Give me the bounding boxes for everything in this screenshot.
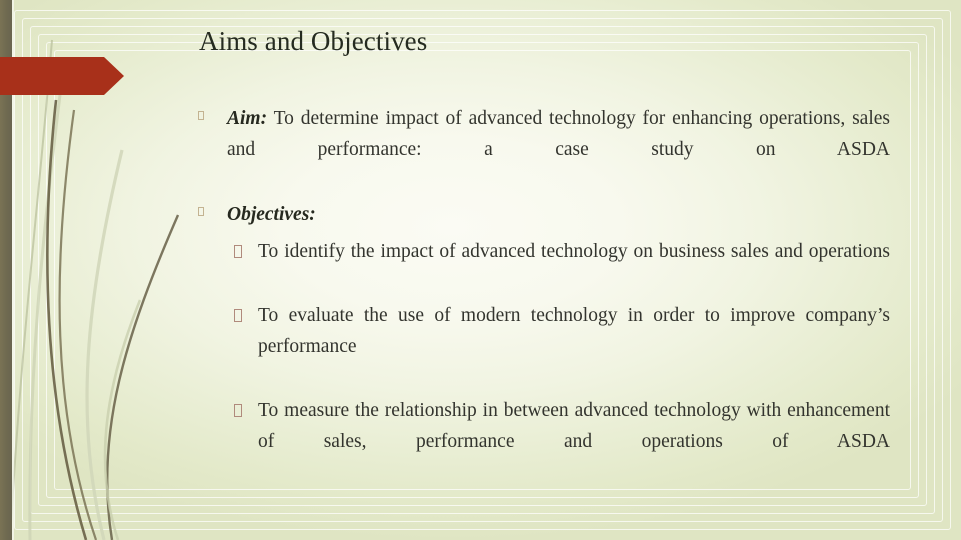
bullet-aim: Aim: To determine impact of advanced tec… (196, 103, 890, 196)
objective-item-text: To identify the impact of advanced techn… (258, 236, 890, 298)
sub-bullet-marker-icon (234, 404, 242, 417)
sub-bullet-marker-icon (234, 245, 242, 258)
objective-item-text: To measure the relationship in between a… (258, 395, 890, 488)
page-title: Aims and Objectives (199, 26, 427, 57)
aim-label: Aim: (227, 108, 267, 129)
bullet-marker-icon (198, 207, 204, 216)
bullet-marker-icon (198, 111, 204, 120)
sub-bullet-marker-icon (234, 309, 242, 322)
red-arrow-banner (0, 57, 124, 95)
list-item: To identify the impact of advanced techn… (196, 236, 890, 298)
list-item: To evaluate the use of modern technology… (196, 300, 890, 393)
bullet-aim-text: Aim: To determine impact of advanced tec… (227, 103, 890, 196)
presentation-slide: Aims and Objectives Aim: To determine im… (0, 0, 961, 540)
slide-body: Aim: To determine impact of advanced tec… (196, 103, 890, 490)
bullet-objectives-text: Objectives: (227, 199, 890, 230)
bullet-objectives: Objectives: (196, 199, 890, 230)
objective-item-text: To evaluate the use of modern technology… (258, 300, 890, 393)
aim-body: To determine impact of advanced technolo… (227, 108, 890, 160)
objectives-label: Objectives: (227, 204, 316, 225)
list-item: To measure the relationship in between a… (196, 395, 890, 488)
objectives-sub-list: To identify the impact of advanced techn… (196, 236, 890, 488)
